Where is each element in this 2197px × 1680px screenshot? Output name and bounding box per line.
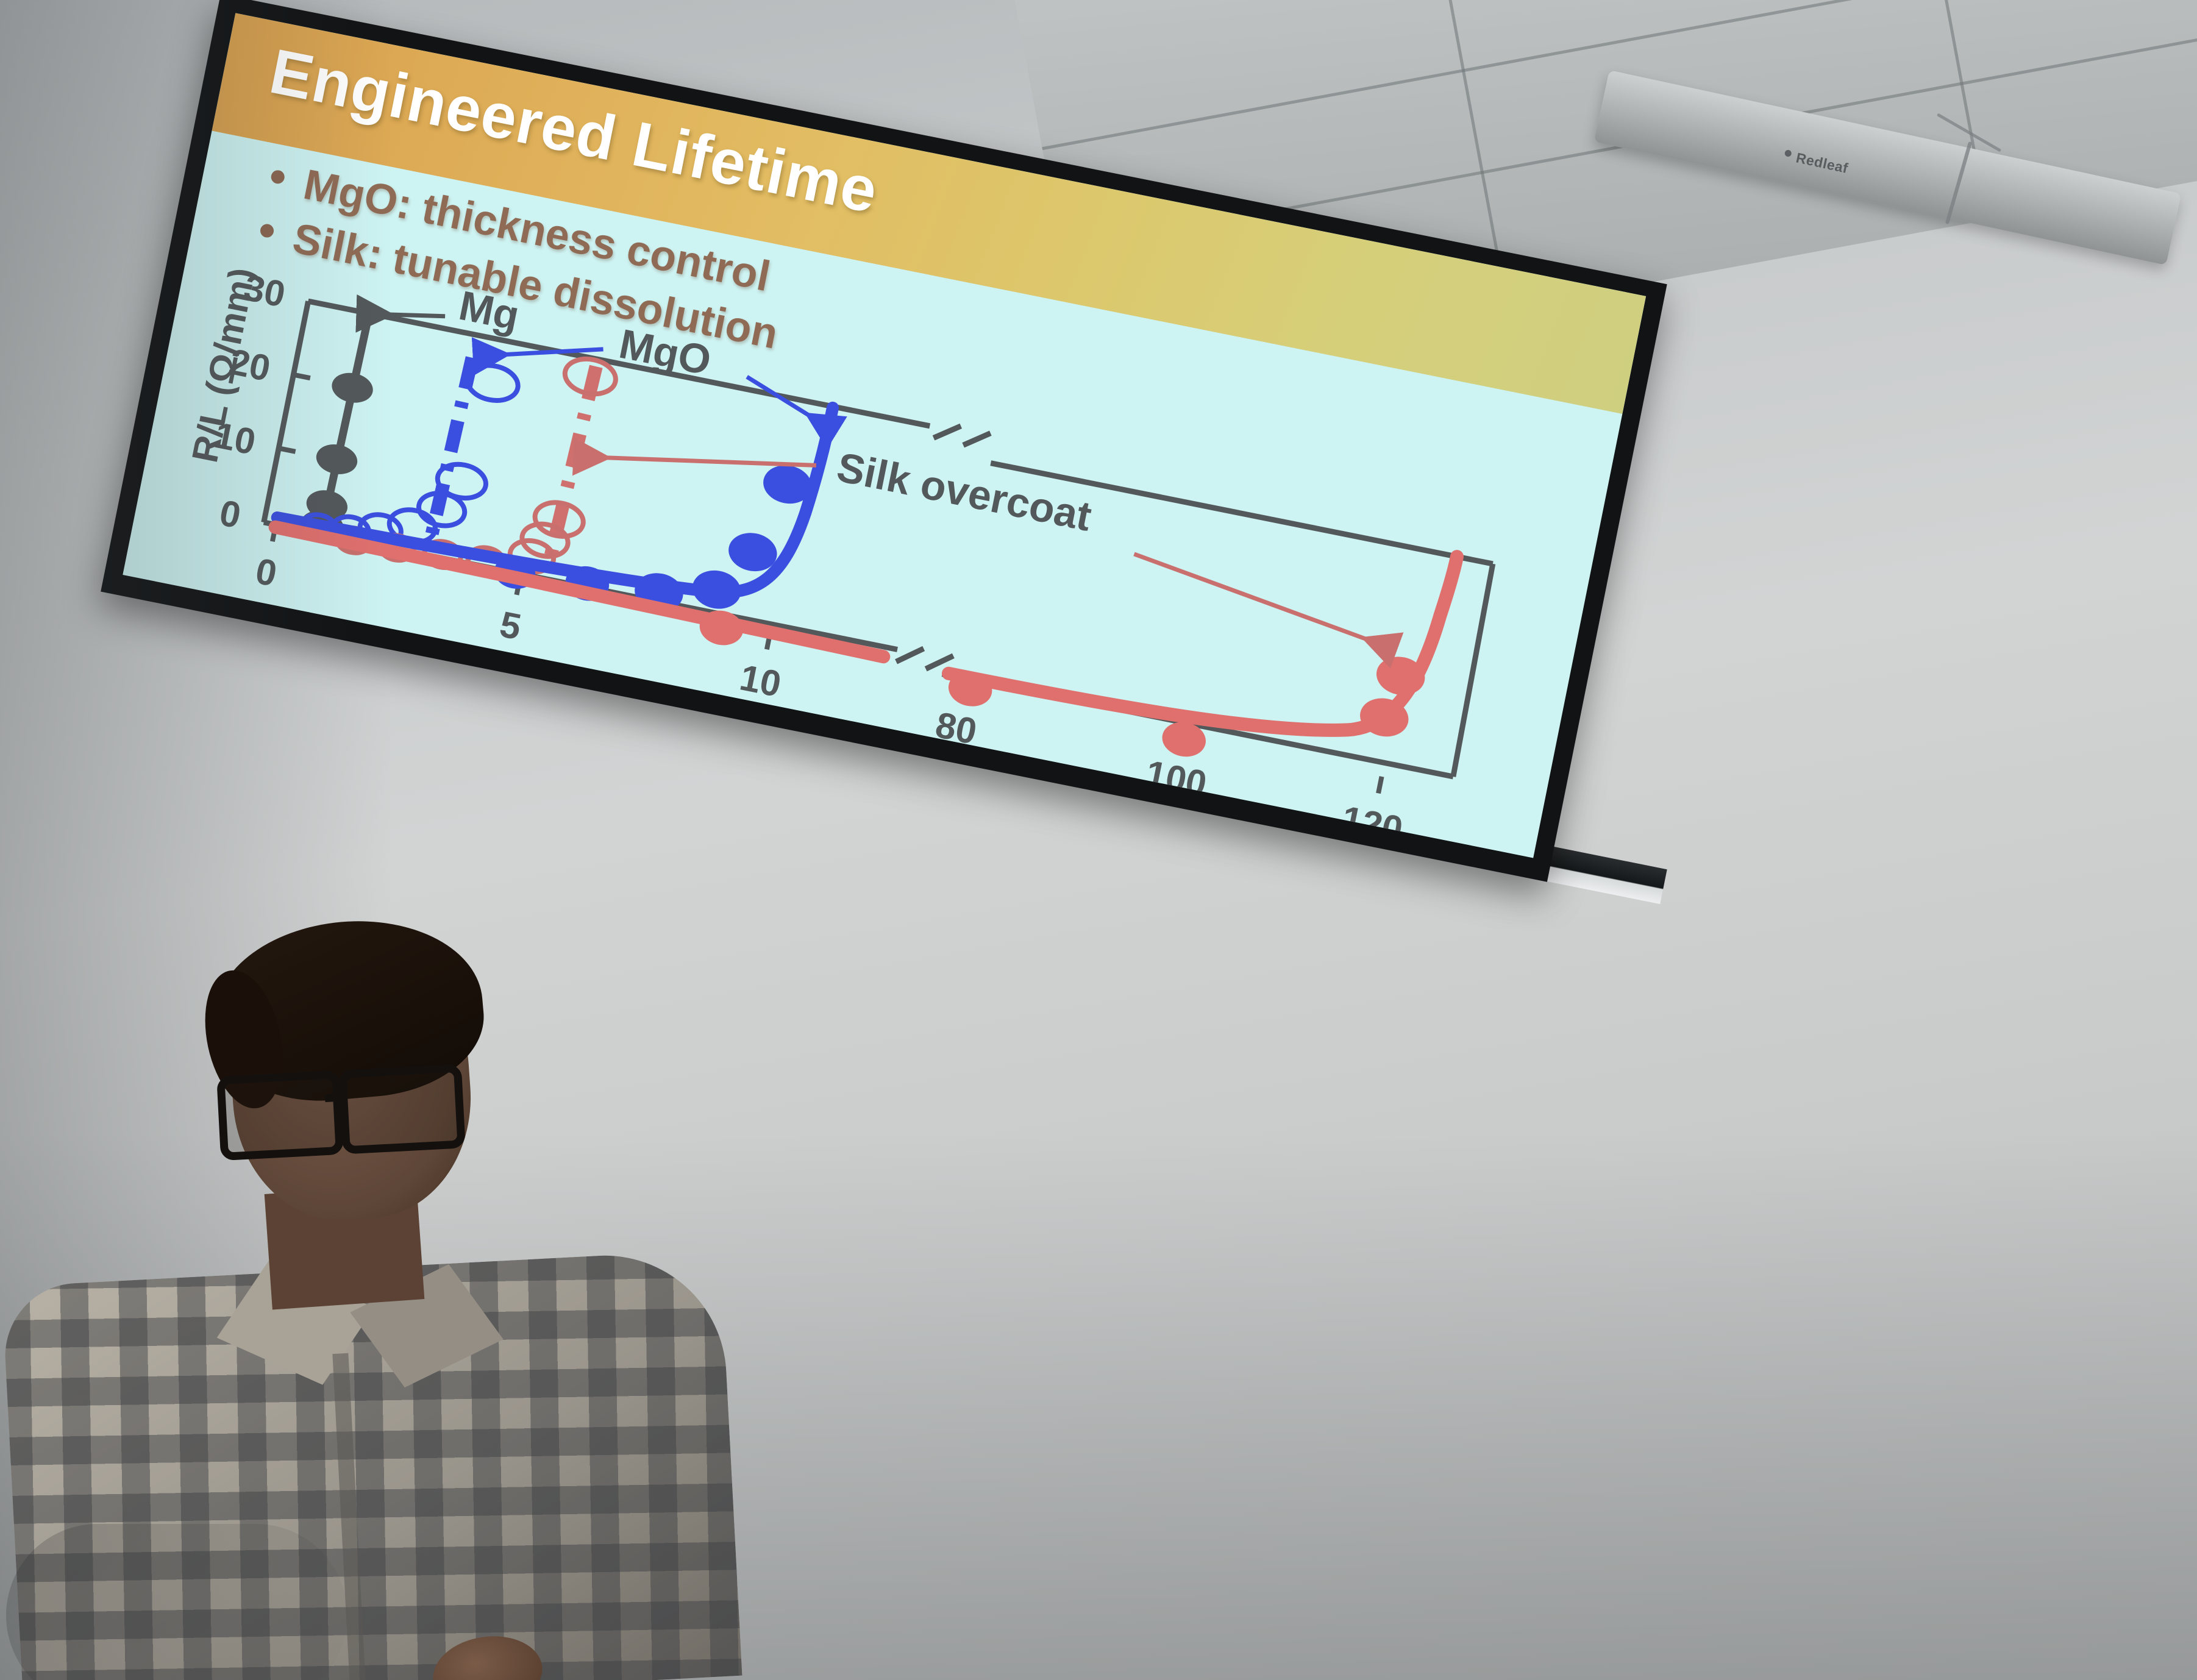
x-tick-label: 5 (496, 603, 524, 647)
glasses-lens (216, 1070, 344, 1161)
annotation-label: Silk overcoat (833, 444, 1095, 540)
x-tick-label: 100 (1142, 752, 1210, 804)
glasses-lens (338, 1064, 466, 1154)
lecture-room-photo: Redleaf Engineered Lifetime MgO: thickne… (0, 0, 2197, 1680)
x-tick-label: 80 (932, 704, 980, 752)
shirt-shadow (6, 1524, 347, 1680)
projection-screen: Engineered Lifetime MgO: thickness contr… (221, 0, 2123, 603)
glasses-icon (216, 1063, 482, 1150)
presenter (55, 927, 786, 1680)
axis-y-right (1450, 564, 1496, 777)
